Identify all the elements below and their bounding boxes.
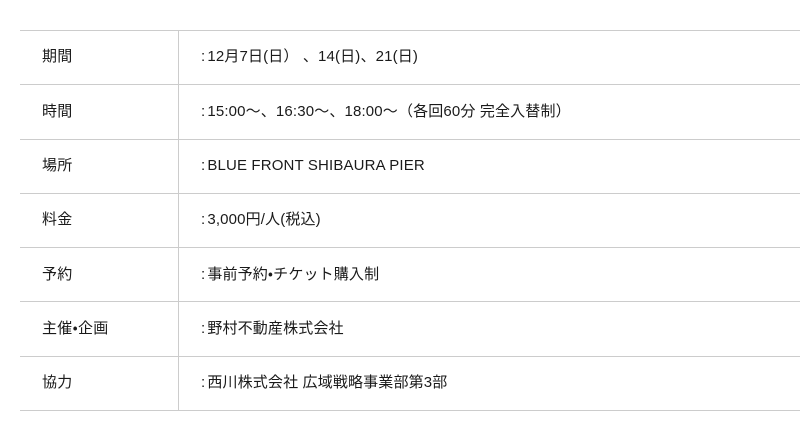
row-label: 時間: [20, 85, 179, 139]
value-separator: :: [201, 155, 205, 178]
row-label: 協力: [20, 356, 179, 410]
row-value-text: :12月7日(日） 、14(日)、21(日): [201, 46, 418, 69]
row-label: 主催・企画: [20, 302, 179, 356]
event-details-table: 期間 :12月7日(日） 、14(日)、21(日) 時間 :15:00〜、16:…: [20, 30, 800, 411]
value-content: 西川株式会社 広域戦略事業部第3部: [207, 374, 447, 391]
value-separator: :: [201, 318, 205, 341]
value-content: BLUE FRONT SHIBAURA PIER: [207, 157, 425, 174]
row-value-text: :西川株式会社 広域戦略事業部第3部: [201, 372, 447, 395]
value-content: 12月7日(日） 、14(日)、21(日): [207, 48, 418, 65]
value-separator: :: [201, 264, 205, 287]
value-content: 3,000円/人(税込): [207, 211, 321, 228]
row-value: :事前予約・チケット購入制: [179, 248, 800, 302]
value-content: 事前予約・チケット購入制: [207, 266, 379, 283]
row-label: 予約: [20, 248, 179, 302]
table-row: 場所 :BLUE FRONT SHIBAURA PIER: [20, 139, 800, 193]
row-value: :BLUE FRONT SHIBAURA PIER: [179, 139, 800, 193]
row-value-text: :野村不動産株式会社: [201, 318, 344, 341]
row-value-text: :15:00〜、16:30〜、18:00〜（各回60分 完全入替制）: [201, 101, 571, 124]
row-value: :12月7日(日） 、14(日)、21(日): [179, 31, 800, 85]
row-value: :野村不動産株式会社: [179, 302, 800, 356]
table-body: 期間 :12月7日(日） 、14(日)、21(日) 時間 :15:00〜、16:…: [20, 31, 800, 411]
value-content: 15:00〜、16:30〜、18:00〜（各回60分 完全入替制）: [207, 103, 570, 120]
row-value-text: :事前予約・チケット購入制: [201, 264, 379, 287]
row-label: 期間: [20, 31, 179, 85]
row-value-text: :3,000円/人(税込): [201, 209, 321, 232]
table-row: 時間 :15:00〜、16:30〜、18:00〜（各回60分 完全入替制）: [20, 85, 800, 139]
value-separator: :: [201, 209, 205, 232]
row-value: :西川株式会社 広域戦略事業部第3部: [179, 356, 800, 410]
table-row: 料金 :3,000円/人(税込): [20, 193, 800, 247]
row-value: :3,000円/人(税込): [179, 193, 800, 247]
value-separator: :: [201, 101, 205, 124]
table-row: 協力 :西川株式会社 広域戦略事業部第3部: [20, 356, 800, 410]
row-value: :15:00〜、16:30〜、18:00〜（各回60分 完全入替制）: [179, 85, 800, 139]
row-value-text: :BLUE FRONT SHIBAURA PIER: [201, 155, 425, 178]
row-label: 場所: [20, 139, 179, 193]
page-canvas: 期間 :12月7日(日） 、14(日)、21(日) 時間 :15:00〜、16:…: [0, 0, 800, 439]
value-separator: :: [201, 46, 205, 69]
value-content: 野村不動産株式会社: [207, 320, 343, 337]
table-row: 期間 :12月7日(日） 、14(日)、21(日): [20, 31, 800, 85]
table-row: 主催・企画 :野村不動産株式会社: [20, 302, 800, 356]
table-row: 予約 :事前予約・チケット購入制: [20, 248, 800, 302]
value-separator: :: [201, 372, 205, 395]
row-label: 料金: [20, 193, 179, 247]
